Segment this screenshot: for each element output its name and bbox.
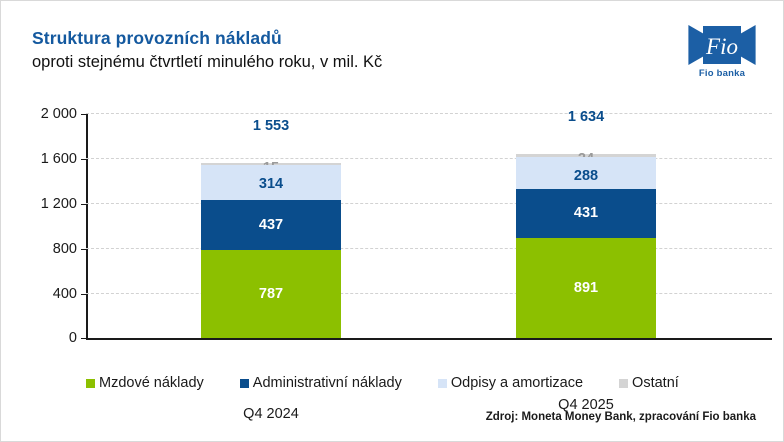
legend-swatch-ostatni-icon: [619, 379, 628, 388]
plot-area: 2 000 1 600 1 200 800 400 0 1 553 15: [86, 113, 772, 338]
tickmark-400: [81, 294, 86, 295]
legend-swatch-mzdove-icon: [86, 379, 95, 388]
gridline-2000: 2 000: [86, 113, 772, 114]
y-tick-label-0: 0: [69, 330, 77, 346]
segment-label-odpisy-q4-2025: 288: [574, 169, 598, 184]
chart-page: Struktura provozních nákladů oproti stej…: [0, 0, 784, 442]
gridline-1600: 1 600: [86, 158, 772, 159]
bar-q4-2025[interactable]: 1 634 24 288 431 891 Q4 2025: [516, 154, 656, 338]
page-title: Struktura provozních nákladů: [32, 28, 282, 49]
y-tick-label-800: 800: [53, 241, 77, 257]
logo-caption: Fio banka: [685, 68, 759, 79]
y-tick-label-1600: 1 600: [41, 151, 77, 167]
gridline-800: 800: [86, 248, 772, 249]
fio-banka-logo: Fio Fio banka: [685, 20, 759, 82]
legend-item-ostatni[interactable]: Ostatní: [619, 376, 679, 391]
legend-swatch-odpisy-icon: [438, 379, 447, 388]
legend-item-mzdove-naklady[interactable]: Mzdové náklady: [86, 376, 204, 391]
tickmark-2000: [81, 114, 86, 115]
segment-label-administrativni-q4-2024: 437: [259, 218, 283, 233]
tickmark-1200: [81, 204, 86, 205]
segment-odpisy-q4-2024[interactable]: 314: [201, 165, 341, 200]
tickmark-1600: [81, 159, 86, 160]
segment-mzdove-q4-2024[interactable]: 787: [201, 250, 341, 339]
x-axis-line: [86, 338, 772, 340]
y-tick-label-400: 400: [53, 286, 77, 302]
legend-item-odpisy-a-amortizace[interactable]: Odpisy a amortizace: [438, 376, 583, 391]
tickmark-0: [81, 338, 86, 339]
bar-q4-2024[interactable]: 1 553 15 314 437 787 Q4 2024: [201, 163, 341, 338]
segment-label-odpisy-q4-2024: 314: [259, 177, 283, 192]
segment-administrativni-q4-2024[interactable]: 437: [201, 200, 341, 249]
legend-label-administrativni-naklady: Administrativní náklady: [253, 376, 402, 391]
segment-mzdove-q4-2025[interactable]: 891: [516, 238, 656, 338]
y-tick-label-1200: 1 200: [41, 196, 77, 212]
x-axis-label-q4-2024: Q4 2024: [243, 406, 299, 422]
legend-label-mzdove-naklady: Mzdové náklady: [99, 376, 204, 391]
segment-odpisy-q4-2025[interactable]: 288: [516, 157, 656, 189]
y-tick-label-2000: 2 000: [41, 106, 77, 122]
bar-total-label-q4-2024: 1 553: [253, 118, 289, 134]
segment-label-administrativni-q4-2025: 431: [574, 206, 598, 221]
legend-item-administrativni-naklady[interactable]: Administrativní náklady: [240, 376, 402, 391]
page-subtitle: oproti stejnému čtvrtletí minulého roku,…: [32, 53, 382, 72]
source-note: Zdroj: Moneta Money Bank, zpracování Fio…: [486, 411, 756, 423]
legend-swatch-administrativni-icon: [240, 379, 249, 388]
legend-label-odpisy-a-amortizace: Odpisy a amortizace: [451, 376, 583, 391]
segment-administrativni-q4-2025[interactable]: 431: [516, 189, 656, 238]
legend-label-ostatni: Ostatní: [632, 376, 679, 391]
tickmark-800: [81, 249, 86, 250]
bar-total-label-q4-2025: 1 634: [568, 109, 604, 125]
segment-label-mzdove-q4-2025: 891: [574, 281, 598, 296]
chart-legend: Mzdové náklady Administrativní náklady O…: [86, 376, 746, 391]
gridline-400: 400: [86, 293, 772, 294]
svg-text:Fio: Fio: [705, 34, 738, 59]
segment-label-mzdove-q4-2024: 787: [259, 287, 283, 302]
chart-header: Struktura provozních nákladů oproti stej…: [1, 1, 784, 101]
gridline-1200: 1 200: [86, 203, 772, 204]
